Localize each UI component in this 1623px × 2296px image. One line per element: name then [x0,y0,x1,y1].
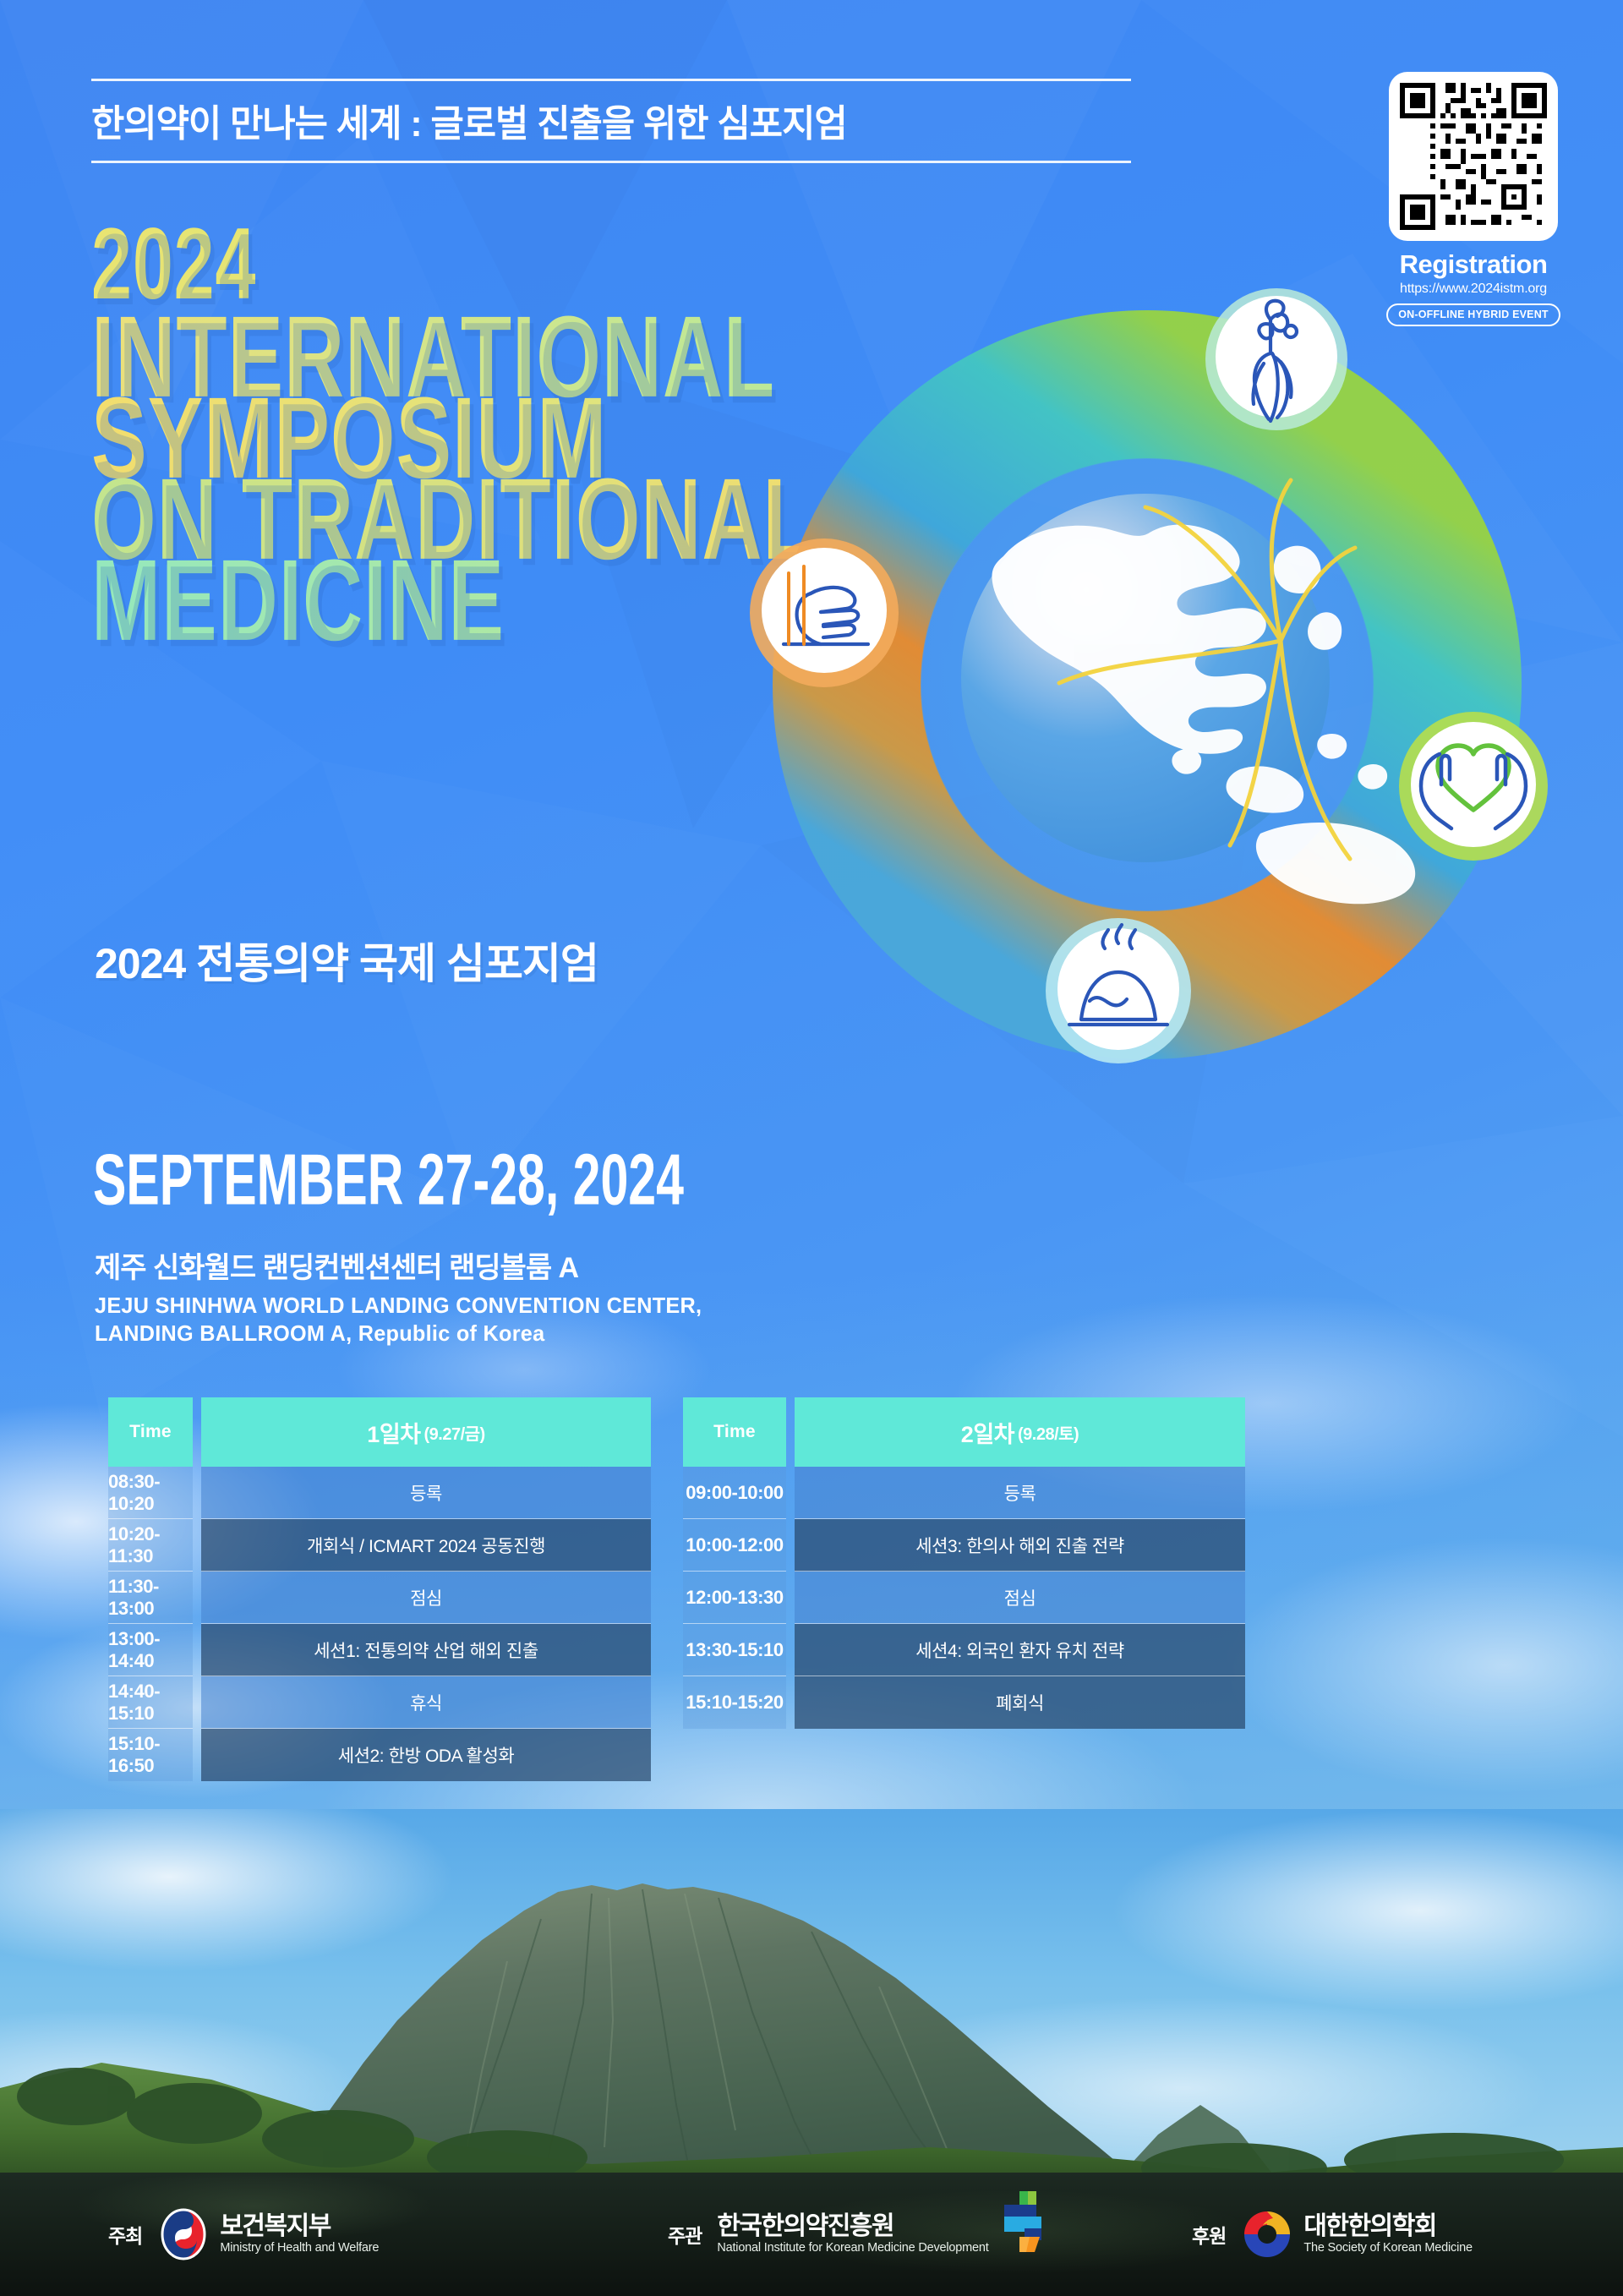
society-korean-medicine-ring-icon [1241,2208,1293,2260]
background-jeju-mountain-photo [0,1809,1623,2189]
organizer-name-kr: 보건복지부 [220,2213,379,2240]
day1-header-label: 1일차 [367,1416,420,1449]
day1-program-1: 개회식 / ICMART 2024 공동진행 [201,1519,651,1572]
day2-header-note: (9.28/토) [1018,1420,1079,1445]
day1-program-2: 점심 [201,1572,651,1624]
day1-header-note: (9.27/금) [424,1420,485,1445]
korea-government-taegeuk-icon [157,2208,210,2260]
day1-time-4: 14:40-15:10 [108,1676,193,1729]
day2-time-0: 09:00-10:00 [683,1467,786,1519]
day1-time-2: 11:30-13:00 [108,1572,193,1624]
day1-program-column: 1일차 (9.27/금) 등록 개회식 / ICMART 2024 공동진행 점… [201,1397,651,1781]
sponsor-name-kr: 대한한의학회 [1303,2213,1473,2240]
herbal-steam-bowl-icon [1046,918,1191,1063]
nikom-ribbon-icon [999,2189,1048,2255]
day2-program-4: 폐회식 [795,1676,1245,1729]
footer-host: 주관 한국한의약진흥원 National Institute for Korea… [668,2213,1048,2255]
day2-program-1: 세션3: 한의사 해외 진출 전략 [795,1519,1245,1572]
sponsor-name-en: The Society of Korean Medicine [1303,2240,1473,2255]
schedule-day2: Time 09:00-10:00 10:00-12:00 12:00-13:30… [683,1397,1245,1729]
day2-program-column: 2일차 (9.28/토) 등록 세션3: 한의사 해외 진출 전략 점심 세션4… [795,1397,1245,1729]
title-line4: MEDICINE [91,551,814,650]
day1-time-1: 10:20-11:30 [108,1519,193,1572]
symposium-ring-graphic [723,262,1572,1112]
kr-headline: 한의약이 만나는 세계 : 글로벌 진출을 위한 심포지엄 [91,93,1100,147]
organizer-name-en: Ministry of Health and Welfare [220,2240,379,2255]
day1-time-0: 08:30-10:20 [108,1467,193,1519]
kr-headline-container: 한의약이 만나는 세계 : 글로벌 진출을 위한 심포지엄 [91,79,1131,163]
schedule-day1: Time 08:30-10:20 10:20-11:30 11:30-13:00… [108,1397,651,1781]
day2-time-column: Time 09:00-10:00 10:00-12:00 12:00-13:30… [683,1397,786,1729]
sponsor-role: 후원 [1192,2220,1226,2249]
footer-organizer: 주최 보건복지부 Ministry of Health and Welfare [108,2208,379,2260]
acupuncture-needles-hand-icon [750,538,899,687]
footer-sponsor: 후원 대한한의학회 The Society of Korean Medicine [1192,2208,1473,2260]
day1-time-3: 13:00-14:40 [108,1624,193,1676]
venue-en-line1: JEJU SHINHWA WORLD LANDING CONVENTION CE… [95,1292,702,1320]
day2-program-2: 점심 [795,1572,1245,1624]
host-role: 주관 [668,2220,702,2249]
day2-header: 2일차 (9.28/토) [795,1397,1245,1467]
ginseng-root-icon [1205,288,1347,430]
day1-program-4: 휴식 [201,1676,651,1729]
poster-root: 한의약이 만나는 세계 : 글로벌 진출을 위한 심포지엄 [0,0,1623,2296]
day2-time-header: Time [683,1397,786,1467]
day2-header-label: 2일차 [961,1416,1014,1449]
day2-time-2: 12:00-13:30 [683,1572,786,1624]
hands-holding-heart-icon [1399,712,1548,861]
venue-kr: 제주 신화월드 랜딩컨벤션센터 랜딩볼룸 A [95,1244,578,1286]
day1-program-3: 세션1: 전통의약 산업 해외 진출 [201,1624,651,1676]
qr-code-icon[interactable] [1389,72,1558,241]
day1-program-0: 등록 [201,1467,651,1519]
day1-header: 1일차 (9.27/금) [201,1397,651,1467]
day2-time-3: 13:30-15:10 [683,1624,786,1676]
organizer-role: 주최 [108,2220,142,2249]
day2-time-4: 15:10-15:20 [683,1676,786,1729]
day1-time-5: 15:10-16:50 [108,1729,193,1781]
day2-program-3: 세션4: 외국인 환자 유치 전략 [795,1624,1245,1676]
day2-program-0: 등록 [795,1467,1245,1519]
venue-en-line2: LANDING BALLROOM A, Republic of Korea [95,1320,702,1348]
day1-time-column: Time 08:30-10:20 10:20-11:30 11:30-13:00… [108,1397,193,1781]
event-date: SEPTEMBER 27-28, 2024 [93,1140,684,1222]
host-name-en: National Institute for Korean Medicine D… [717,2240,988,2255]
host-name-kr: 한국한의약진흥원 [717,2213,988,2240]
venue-en: JEJU SHINHWA WORLD LANDING CONVENTION CE… [95,1292,702,1348]
day1-program-5: 세션2: 한방 ODA 활성화 [201,1729,651,1781]
day1-time-header: Time [108,1397,193,1467]
kr-subtitle: 2024 전통의약 국제 심포지엄 [95,930,598,991]
footer-logos: 주최 보건복지부 Ministry of Health and Welfare [0,2173,1623,2296]
day2-time-1: 10:00-12:00 [683,1519,786,1572]
